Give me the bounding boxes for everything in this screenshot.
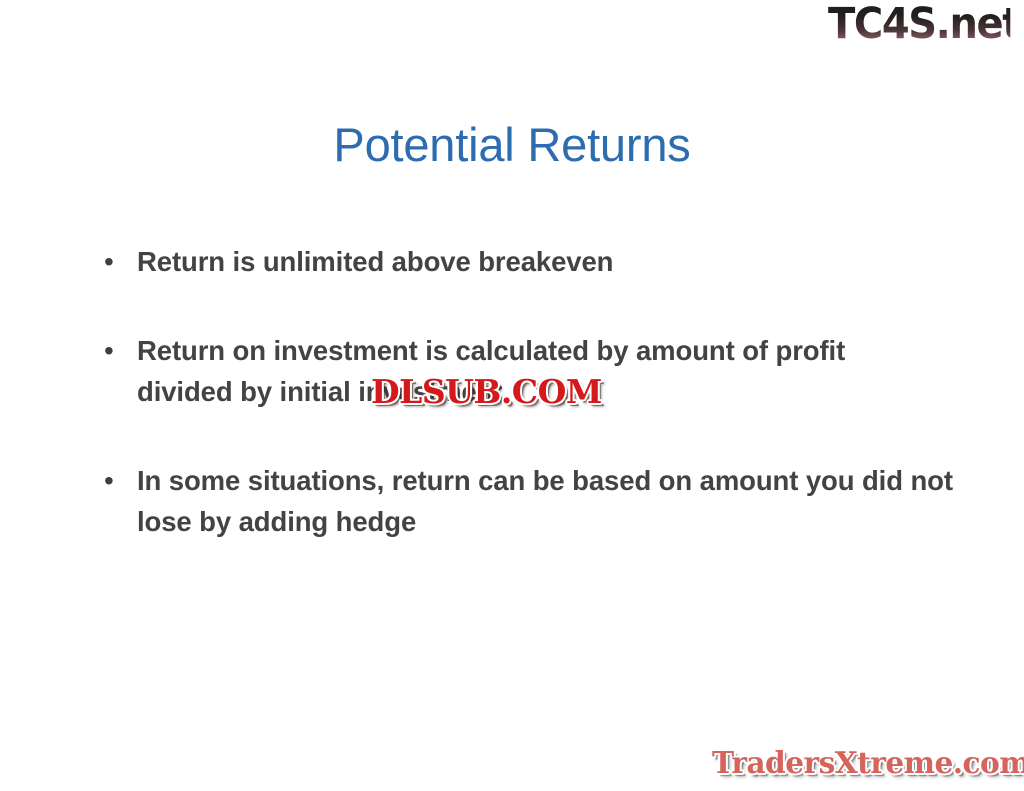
- bullet-item-3-text: In some situations, return can be based …: [137, 460, 960, 542]
- bullet-marker-icon: •: [100, 330, 137, 371]
- bullet-item-1-text: Return is unlimited above breakeven: [137, 241, 927, 282]
- presentation-slide: TC4S.net Potential Returns • Return is u…: [0, 0, 1024, 791]
- bullet-list: • Return is unlimited above breakeven • …: [100, 241, 960, 542]
- slide-title: Potential Returns: [0, 116, 1024, 174]
- brand-logo-top-right: TC4S.net: [828, 0, 1024, 54]
- bullet-item-3: • In some situations, return can be base…: [100, 460, 960, 542]
- brand-logo-top-right-text: TC4S.net: [828, 0, 1010, 50]
- bullet-item-2-text: Return on investment is calculated by am…: [137, 330, 927, 412]
- bullet-marker-icon: •: [100, 241, 137, 282]
- brand-logo-bottom-right-text: TradersXtreme.com: [712, 745, 1021, 783]
- bullet-item-2: • Return on investment is calculated by …: [100, 330, 960, 412]
- bullet-item-1: • Return is unlimited above breakeven: [100, 241, 960, 282]
- slide-title-text: Potential Returns: [333, 118, 690, 171]
- bullet-marker-icon: •: [100, 460, 137, 501]
- brand-logo-bottom-right: TradersXtreme.com: [712, 745, 1024, 789]
